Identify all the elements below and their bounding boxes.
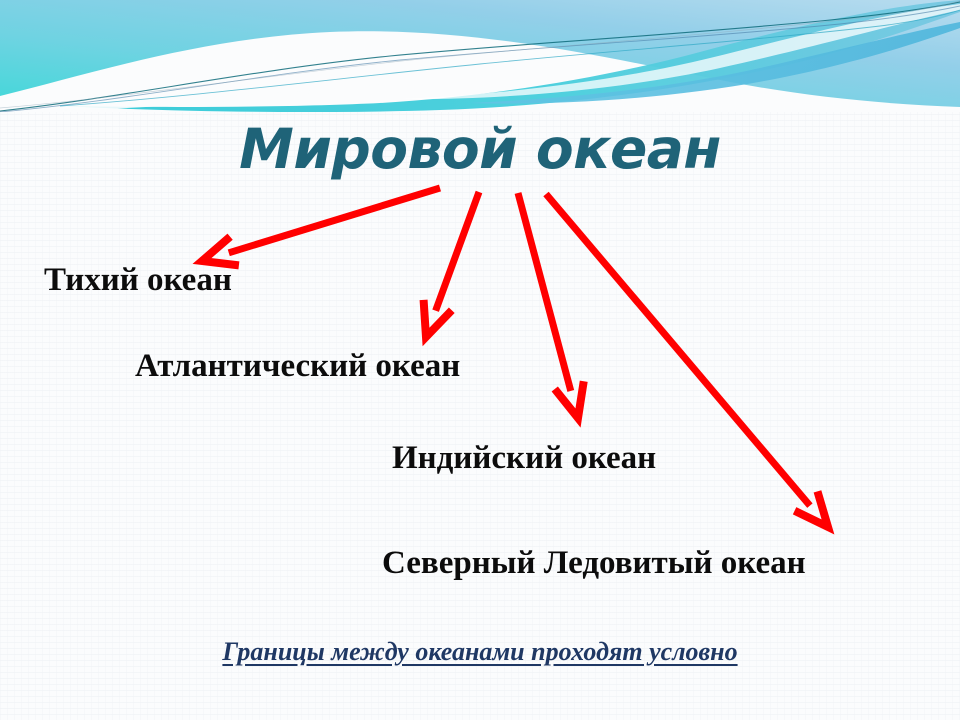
arrow-to-pacific-shaft — [229, 188, 440, 253]
presentation-slide: Мировой океан Тихий океан Атлантический … — [0, 0, 960, 720]
arrow-to-arctic-head — [795, 491, 828, 527]
ocean-label-indian: Индийский океан — [392, 440, 656, 476]
ocean-label-pacific: Тихий океан — [44, 262, 232, 298]
flow-wave-banner-icon — [0, 0, 960, 112]
ocean-label-atlantic: Атлантический океан — [135, 348, 460, 384]
ocean-label-arctic: Северный Ледовитый океан — [382, 545, 806, 581]
arrow-to-atlantic-head — [424, 300, 452, 337]
arrow-to-indian-shaft — [518, 193, 571, 391]
page-title: Мировой океан — [0, 121, 960, 179]
arrow-to-atlantic-shaft — [436, 192, 479, 311]
footnote-text: Границы между океанами проходят условно — [0, 637, 960, 667]
arrow-to-indian-head — [555, 381, 584, 418]
